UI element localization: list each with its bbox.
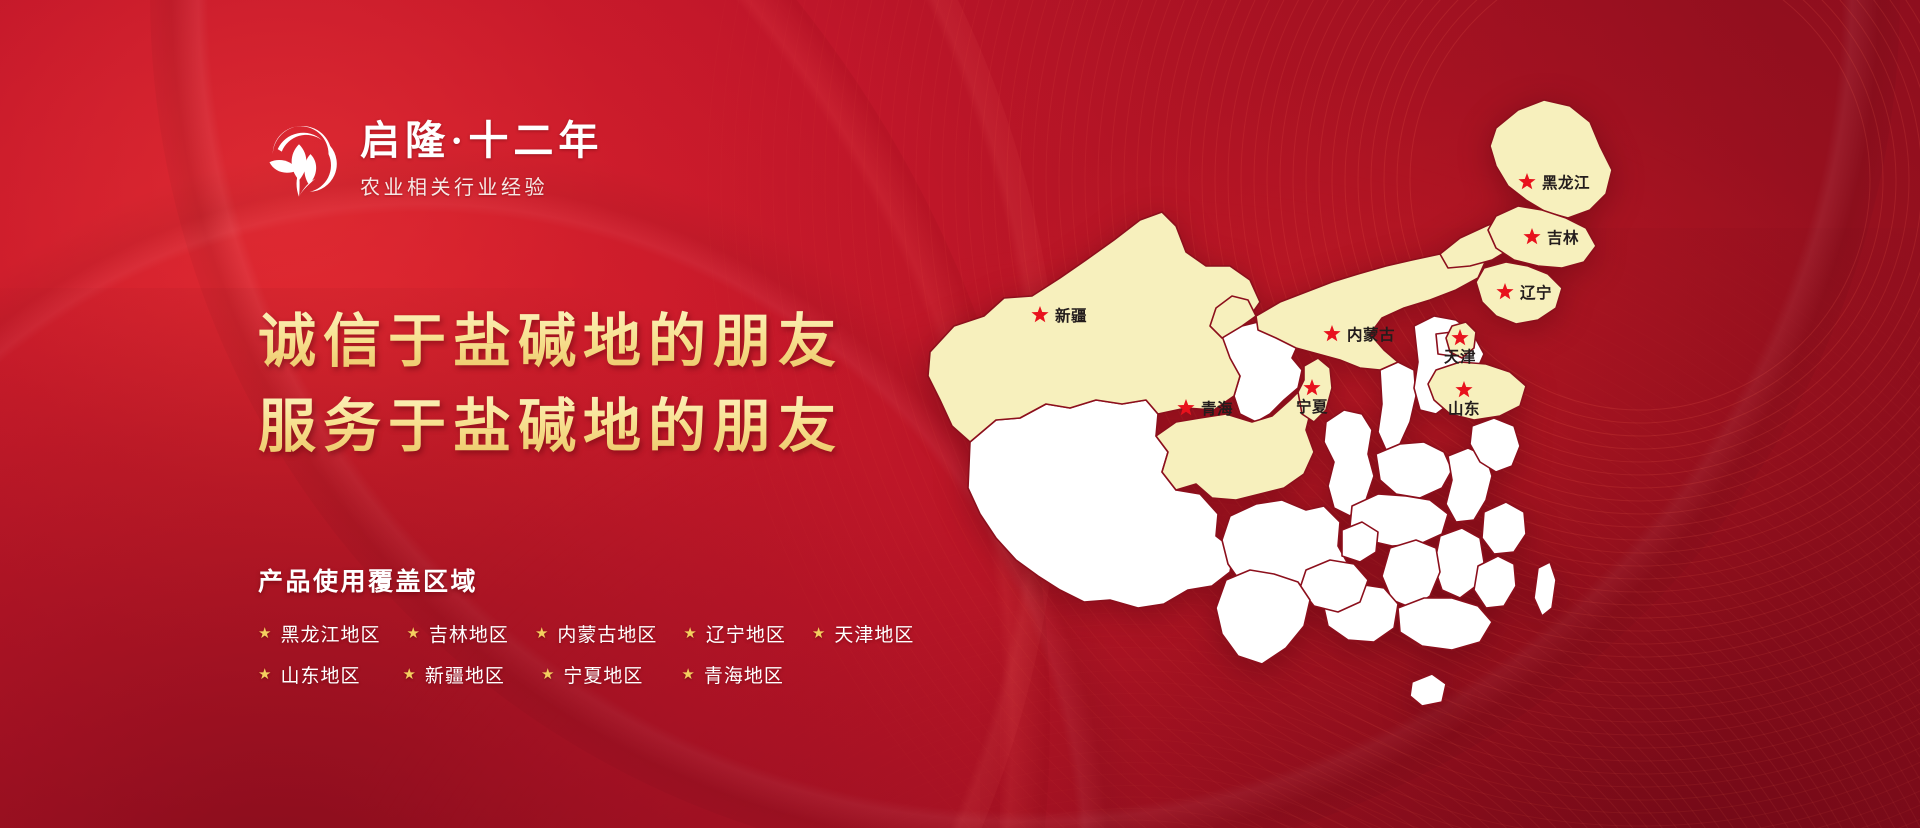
region-item[interactable]: ★辽宁地区 <box>683 620 785 647</box>
banner-stage: 启隆·十二年 农业相关行业经验 诚信于盐碱地的朋友 服务于盐碱地的朋友 产品使用… <box>0 0 1920 828</box>
star-icon: ★ <box>258 626 271 641</box>
region-label: 内蒙古地区 <box>557 620 657 647</box>
star-icon: ★ <box>541 667 554 682</box>
map-region-label: 宁夏 <box>1296 397 1328 416</box>
region-item[interactable]: ★天津地区 <box>812 620 914 647</box>
region-label: 宁夏地区 <box>563 661 643 688</box>
brand-subtitle: 农业相关行业经验 <box>360 171 603 200</box>
region-item[interactable]: ★吉林地区 <box>406 620 508 647</box>
headline-line-2: 服务于盐碱地的朋友 <box>258 385 843 470</box>
region-item[interactable]: ★宁夏地区 <box>541 661 643 688</box>
map-region-label: 新疆 <box>1055 306 1087 325</box>
region-list: ★黑龙江地区★吉林地区★内蒙古地区★辽宁地区★天津地区★山东地区★新疆地区★宁夏… <box>258 620 914 688</box>
map-region-label: 青海 <box>1201 399 1233 418</box>
region-label: 青海地区 <box>704 661 784 688</box>
star-icon: ★ <box>406 626 419 641</box>
region-label: 辽宁地区 <box>706 620 786 647</box>
map-region-label: 吉林 <box>1547 228 1579 247</box>
lotus-leaf-circle-icon <box>258 118 340 200</box>
region-item[interactable]: ★内蒙古地区 <box>535 620 657 647</box>
region-label: 新疆地区 <box>425 661 505 688</box>
star-icon: ★ <box>535 626 548 641</box>
star-icon: ★ <box>402 667 415 682</box>
region-item[interactable]: ★黑龙江地区 <box>258 620 380 647</box>
headline-line-1: 诚信于盐碱地的朋友 <box>258 300 843 385</box>
region-item[interactable]: ★青海地区 <box>681 661 783 688</box>
star-icon: ★ <box>258 667 271 682</box>
map-region-label: 山东 <box>1448 399 1480 418</box>
coverage-title: 产品使用覆盖区域 <box>258 562 914 598</box>
region-row: ★山东地区★新疆地区★宁夏地区★青海地区 <box>258 661 914 688</box>
china-map-svg: 黑龙江吉林辽宁天津山东内蒙古宁夏新疆青海 <box>900 70 1660 760</box>
brand-lockup: 启隆·十二年 农业相关行业经验 <box>258 118 603 200</box>
brand-title: 启隆·十二年 <box>360 120 603 162</box>
banner-content: 启隆·十二年 农业相关行业经验 诚信于盐碱地的朋友 服务于盐碱地的朋友 产品使用… <box>0 0 900 828</box>
map-region-label: 黑龙江 <box>1542 173 1590 192</box>
star-icon: ★ <box>681 667 694 682</box>
region-label: 吉林地区 <box>429 620 509 647</box>
star-icon: ★ <box>812 626 825 641</box>
star-icon: ★ <box>683 626 696 641</box>
headline-block: 诚信于盐碱地的朋友 服务于盐碱地的朋友 <box>258 300 843 469</box>
china-map: 黑龙江吉林辽宁天津山东内蒙古宁夏新疆青海 <box>900 70 1660 760</box>
region-label: 黑龙江地区 <box>280 620 380 647</box>
map-region-label: 内蒙古 <box>1347 325 1395 344</box>
map-region-label: 辽宁 <box>1520 283 1552 302</box>
map-region-label: 天津 <box>1444 348 1476 366</box>
region-item[interactable]: ★新疆地区 <box>402 661 504 688</box>
region-item[interactable]: ★山东地区 <box>258 661 360 688</box>
region-label: 山东地区 <box>280 661 360 688</box>
coverage-section: 产品使用覆盖区域 ★黑龙江地区★吉林地区★内蒙古地区★辽宁地区★天津地区★山东地… <box>258 562 914 702</box>
region-row: ★黑龙江地区★吉林地区★内蒙古地区★辽宁地区★天津地区 <box>258 620 914 647</box>
